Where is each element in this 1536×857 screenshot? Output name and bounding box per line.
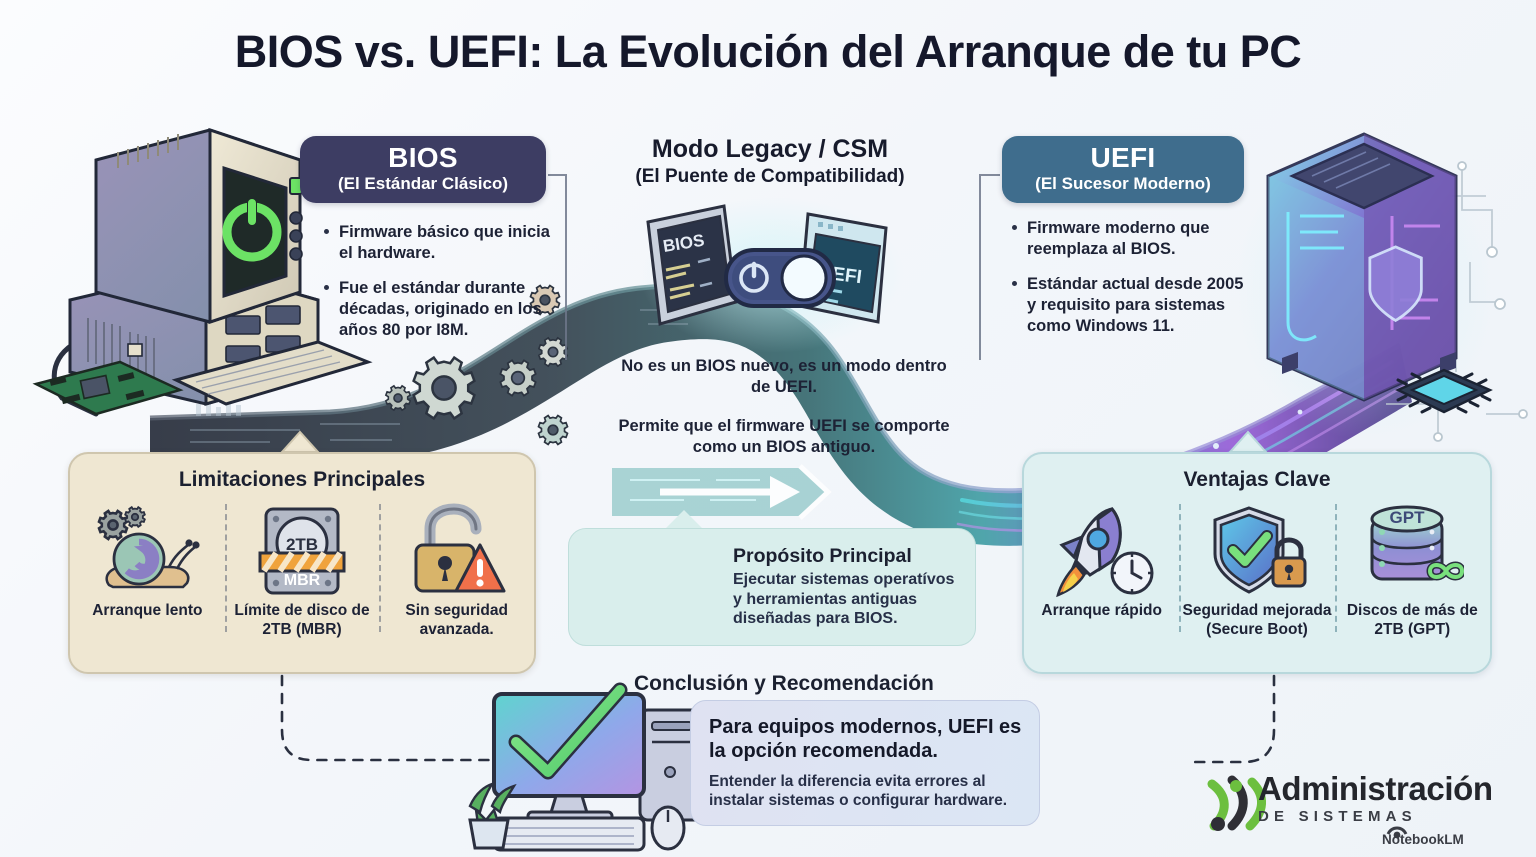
advantage-caption: Discos de más de 2TB (GPT) [1335,602,1490,640]
power-icon [741,264,767,291]
uefi-header-pill: UEFI (El Sucesor Moderno) [1002,136,1244,203]
list-item: Estándar actual desde 2005 y requisito p… [1010,274,1250,337]
conclusion-illustration [470,690,704,850]
hard-disk-mbr-icon: 2TB MBR [256,502,348,600]
advantage-item-large-disks: GPT Discos de más de 2TB (GPT) [1335,496,1490,666]
limitation-caption: Arranque lento [92,602,202,621]
limitation-caption: Límite de disco de 2TB (MBR) [225,602,380,640]
uefi-heading: UEFI [1020,143,1226,173]
advantages-card: Ventajas Clave [1022,452,1492,674]
power-symbol-icon [227,196,277,257]
disk-badge-top: 2TB [286,535,318,554]
snail-gears-icon [91,502,203,600]
limitations-card: Limitaciones Principales [68,452,536,674]
gpt-badge: GPT [1390,508,1426,527]
csm-paragraph: No es un BIOS nuevo, es un modo dentro d… [616,356,952,399]
uefi-subheading: (El Sucesor Moderno) [1020,174,1226,194]
limitation-item-slow-boot: Arranque lento [70,496,225,666]
uefi-bullet-list: Firmware moderno que reemplaza al BIOS. … [1010,218,1250,352]
rocket-clock-icon [1046,502,1158,600]
brand-logo: Administración DE SISTEMAS [1196,772,1516,834]
database-gpt-infinity-icon: GPT [1360,502,1464,600]
shield-glow-icon [1370,247,1422,321]
bios-bullet-list: Firmware básico que inicia el hardware. … [322,222,552,356]
shield-check-lock-icon [1205,502,1309,600]
svg-text:BIOS: BIOS [662,231,706,256]
csm-paragraph: Permite que el firmware UEFI se comporte… [616,416,952,459]
cpu-chip-icon [1398,370,1490,412]
purpose-title: Propósito Principal [733,545,961,568]
advantage-caption: Seguridad mejorada (Secure Boot) [1179,602,1334,640]
bios-heading: BIOS [318,143,528,173]
svg-text:UEFI: UEFI [817,262,863,288]
watermark-label: NotebookLM [1382,832,1464,847]
page-title: BIOS vs. UEFI: La Evolución del Arranque… [0,26,1536,78]
advantages-title: Ventajas Clave [1024,468,1490,492]
advantage-item-fast-boot: Arranque rápido [1024,496,1179,666]
bios-uefi-toggle-illustration: BIOS UEFI [640,197,904,353]
purpose-box: Propósito Principal Ejecutar sistemas op… [568,528,976,646]
conclusion-soft: Entender la diferencia evita errores al … [709,772,1023,811]
csm-subheading: (El Puente de Compatibilidad) [600,166,940,188]
brand-subtitle: DE SISTEMAS [1258,808,1516,825]
conclusion-strong: Para equipos modernos, UEFI es la opción… [709,715,1023,763]
advantage-item-secure-boot: Seguridad mejorada (Secure Boot) [1179,496,1334,666]
open-padlock-warning-icon [406,502,508,600]
list-item: Firmware básico que inicia el hardware. [322,222,552,264]
disk-badge-bottom: MBR [284,572,321,589]
advantage-caption: Arranque rápido [1041,602,1162,621]
bios-subheading: (El Estándar Clásico) [318,174,528,194]
bios-header-pill: BIOS (El Estándar Clásico) [300,136,546,203]
list-item: Firmware moderno que reemplaza al BIOS. [1010,218,1250,260]
limitations-title: Limitaciones Principales [70,468,534,492]
brand-name: Administración [1258,772,1516,805]
csm-description: No es un BIOS nuevo, es un modo dentro d… [616,356,952,459]
list-item: Fue el estándar durante décadas, origina… [322,278,552,341]
conclusion-box: Para equipos modernos, UEFI es la opción… [690,700,1040,826]
csm-header: Modo Legacy / CSM (El Puente de Compatib… [600,136,940,188]
csm-heading: Modo Legacy / CSM [600,136,940,164]
limitation-caption: Sin seguridad avanzada. [379,602,534,640]
infographic-canvas: BIOS UEFI [0,0,1536,857]
modern-pc-tower-illustration [1236,134,1527,441]
conclusion-heading: Conclusión y Recomendación [634,672,934,696]
limitation-item-no-security: Sin seguridad avanzada. [379,496,534,666]
limitation-item-disk-limit: 2TB MBR Límite de disco de 2TB (MBR) [225,496,380,666]
purpose-body: Ejecutar sistemas operatívos y herramien… [733,570,961,629]
